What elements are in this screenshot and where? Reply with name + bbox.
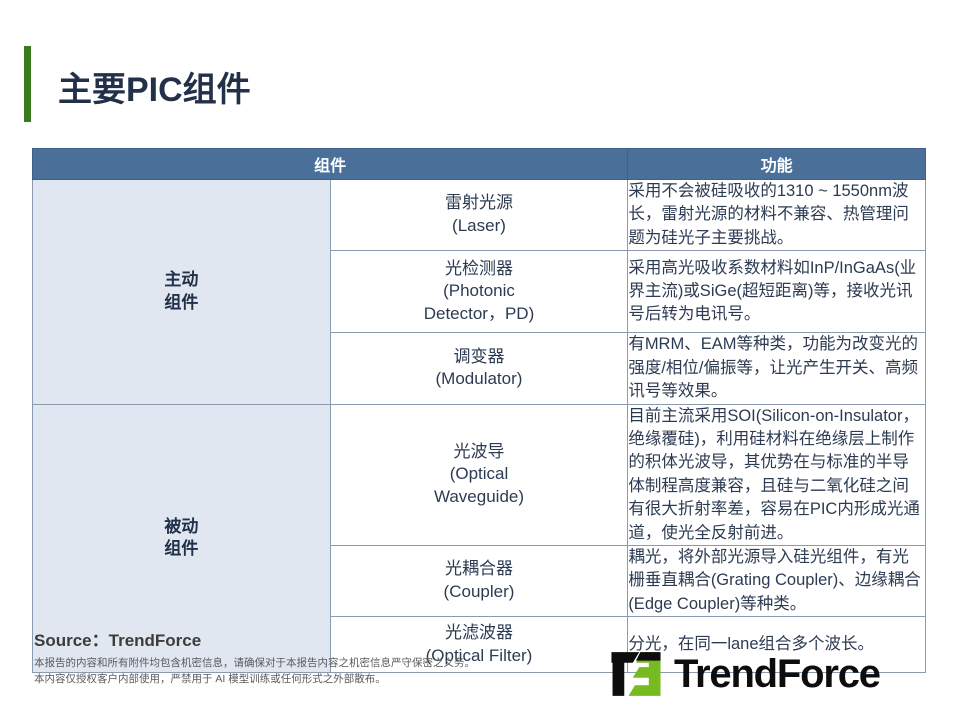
category-label-line2: 组件 xyxy=(33,292,330,314)
component-name-line1: 调变器 xyxy=(331,346,628,369)
disclaimer-text: 本报告的内容和所有附件均包含机密信息，请确保对于本报告内容之机密信息严守保密之义… xyxy=(34,655,475,688)
component-name-coupler: 光耦合器 (Coupler) xyxy=(330,546,628,617)
slide-canvas: TrendForce 主要PIC组件 组件 功能 主动 组件 雷射光源 (Las… xyxy=(0,0,960,720)
component-name-photonic-detector: 光检测器 (Photonic Detector，PD) xyxy=(330,251,628,333)
component-name-line1: 光波导 xyxy=(331,441,628,464)
component-name-line2: (Laser) xyxy=(331,215,628,238)
category-cell-active: 主动 组件 xyxy=(33,180,331,405)
component-function-modulator: 有MRM、EAM等种类，功能为改变光的强度/相位/偏振等，让光产生开关、高频讯号… xyxy=(628,333,926,404)
table-row: 被动 组件 光波导 (Optical Waveguide) 目前主流采用SOI(… xyxy=(33,404,926,546)
component-name-line2: (Modulator) xyxy=(331,368,628,391)
trendforce-logo-icon xyxy=(608,650,664,698)
component-function-optical-waveguide: 目前主流采用SOI(Silicon-on-Insulator，绝缘覆硅)，利用硅… xyxy=(628,404,926,546)
column-header-function: 功能 xyxy=(628,149,926,180)
trendforce-logo: TrendForce xyxy=(608,645,938,703)
category-label-line1: 被动 xyxy=(33,516,330,538)
table-header-row: 组件 功能 xyxy=(33,149,926,180)
component-name-line3: Waveguide) xyxy=(331,486,628,509)
component-function-laser: 采用不会被硅吸收的1310 ~ 1550nm波长，雷射光源的材料不兼容、热管理问… xyxy=(628,180,926,251)
component-name-line2: (Optical xyxy=(331,463,628,486)
title-accent-bar xyxy=(24,46,31,122)
component-function-coupler: 耦光，将外部光源导入硅光组件，有光栅垂直耦合(Grating Coupler)、… xyxy=(628,546,926,617)
component-name-line1: 雷射光源 xyxy=(331,192,628,215)
component-name-line3: Detector，PD) xyxy=(331,303,628,326)
column-header-component: 组件 xyxy=(33,149,628,180)
table-row: 主动 组件 雷射光源 (Laser) 采用不会被硅吸收的1310 ~ 1550n… xyxy=(33,180,926,251)
category-label-line1: 主动 xyxy=(33,269,330,291)
category-label-line2: 组件 xyxy=(33,538,330,560)
source-label: Source：TrendForce xyxy=(34,626,201,651)
component-name-line1: 光滤波器 xyxy=(331,622,628,645)
component-name-line2: (Photonic xyxy=(331,280,628,303)
pic-components-table: 组件 功能 主动 组件 雷射光源 (Laser) 采用不会被硅吸收的1310 ~… xyxy=(32,148,926,673)
component-function-photonic-detector: 采用高光吸收系数材料如InP/InGaAs(业界主流)或SiGe(超短距离)等，… xyxy=(628,251,926,333)
page-title: 主要PIC组件 xyxy=(58,62,251,111)
component-name-modulator: 调变器 (Modulator) xyxy=(330,333,628,404)
trendforce-logo-text: TrendForce xyxy=(674,654,880,694)
component-name-line2: (Coupler) xyxy=(331,581,628,604)
component-name-line1: 光检测器 xyxy=(331,258,628,281)
disclaimer-line-2: 本内容仅授权客户内部使用，严禁用于 AI 模型训练或任何形式之外部散布。 xyxy=(34,671,475,687)
component-name-line1: 光耦合器 xyxy=(331,558,628,581)
component-name-laser: 雷射光源 (Laser) xyxy=(330,180,628,251)
component-name-optical-waveguide: 光波导 (Optical Waveguide) xyxy=(330,404,628,546)
disclaimer-line-1: 本报告的内容和所有附件均包含机密信息，请确保对于本报告内容之机密信息严守保密之义… xyxy=(34,655,475,671)
